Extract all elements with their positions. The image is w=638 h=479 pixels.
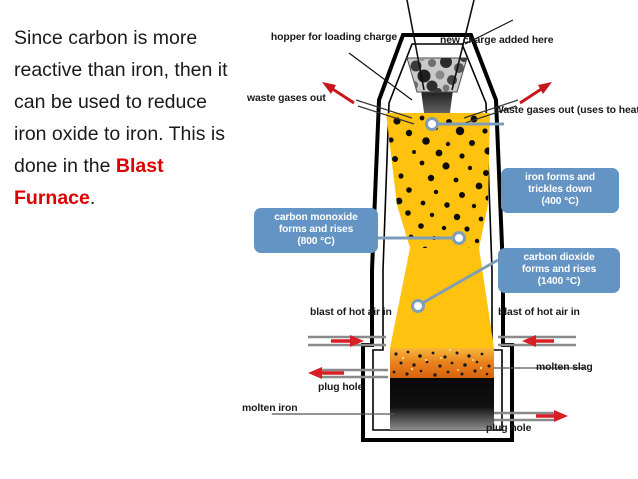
waste-gas-right-arrowhead xyxy=(538,82,552,94)
hot-air-blast-right xyxy=(498,335,576,347)
label-plug-hole-left: plug hole xyxy=(318,382,363,395)
iron-tap-right-arrowhead xyxy=(554,410,568,422)
callout-carbon-monoxide-forms-rises: carbon monoxide forms and rises (800 °C) xyxy=(254,208,378,253)
molten-iron-layer xyxy=(390,378,494,430)
callout-iron-forms-trickles-down: iron forms and trickles down (400 °C) xyxy=(501,168,619,213)
page-caption: Since carbon is more reactive than iron,… xyxy=(14,22,236,214)
callout-carbon-dioxide-forms-rises: carbon dioxide forms and rises (1400 °C) xyxy=(498,248,620,293)
molten-slag-layer xyxy=(390,348,494,378)
caption-text-part2: . xyxy=(90,187,95,209)
slag-tap-left-arrowhead xyxy=(308,367,322,379)
label-blast-of-hot-air-in-right: blast of hot air in xyxy=(498,307,580,320)
label-plug-hole-right: plug hole xyxy=(486,423,531,436)
slide-canvas: Since carbon is more reactive than iron,… xyxy=(0,0,638,479)
label-hopper-for-loading-charge: hopper for loading charge xyxy=(264,32,404,45)
label-molten-slag: molten slag xyxy=(536,362,593,375)
label-waste-gases-out-left: waste gases out xyxy=(247,93,326,106)
blast-furnace-diagram: hopper for loading charge new charge add… xyxy=(236,0,638,479)
label-molten-iron: molten iron xyxy=(242,403,297,416)
label-new-charge-added-here: new charge added here xyxy=(440,35,553,48)
label-waste-gases-out-right: Waste gases out (uses to heat up the air… xyxy=(494,105,624,118)
label-blast-of-hot-air-in-left: blast of hot air in xyxy=(310,307,392,320)
